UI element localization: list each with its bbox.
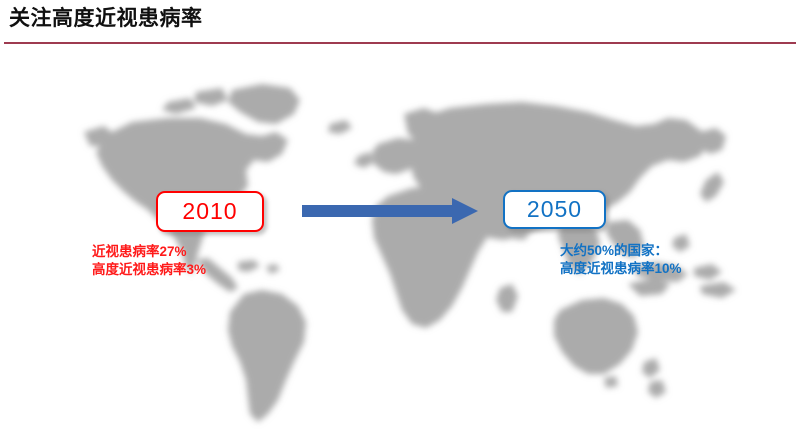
caption-2050-line-2: 高度近视患病率10% <box>560 260 682 278</box>
caption-2010-line-1: 近视患病率27% <box>92 243 206 261</box>
title-divider <box>4 42 796 44</box>
caption-2010: 近视患病率27% 高度近视患病率3% <box>92 243 206 279</box>
caption-2050-line-1: 大约50%的国家： <box>560 242 682 260</box>
year-badge-2050[interactable]: 2050 <box>503 190 606 229</box>
caption-2050: 大约50%的国家： 高度近视患病率10% <box>560 242 682 278</box>
caption-2010-line-2: 高度近视患病率3% <box>92 261 206 279</box>
page-title: 关注高度近视患病率 <box>9 6 203 32</box>
progression-arrow-icon <box>300 196 480 226</box>
slide-canvas: 关注高度近视患病率 <box>0 0 800 431</box>
year-badge-2010[interactable]: 2010 <box>156 191 264 232</box>
